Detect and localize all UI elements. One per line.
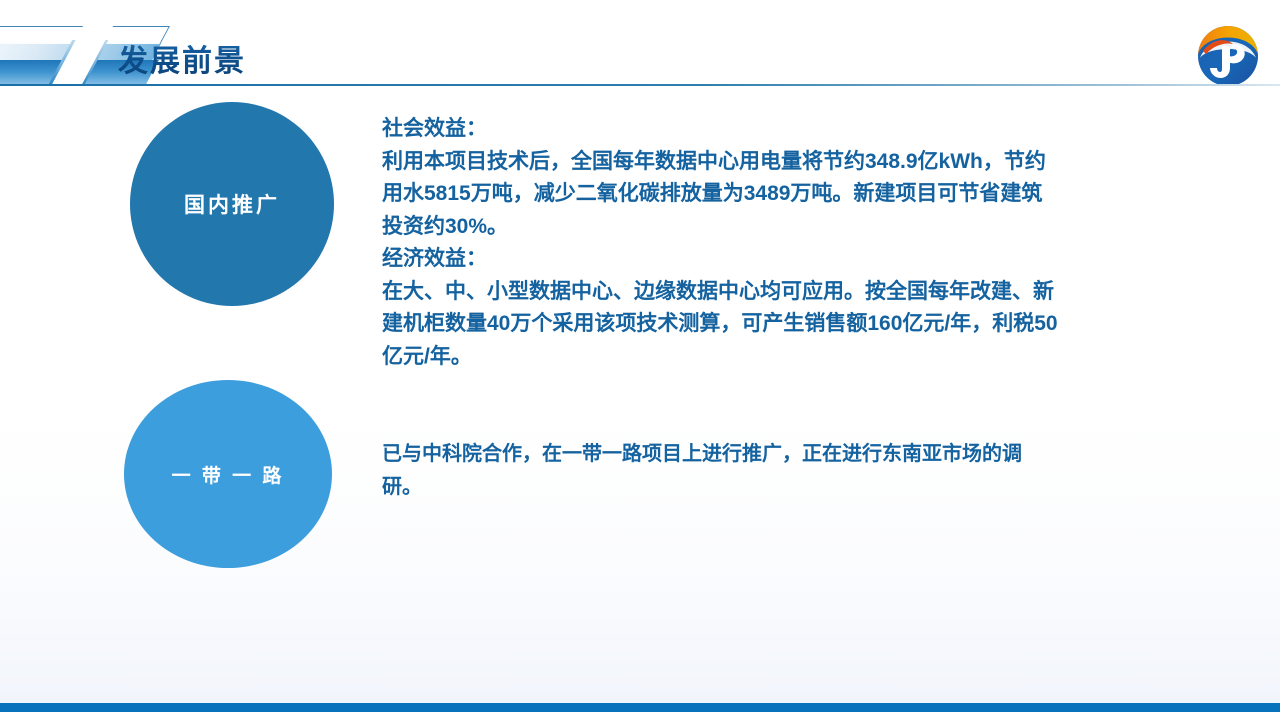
page-title: 发展前景 xyxy=(118,36,246,80)
footer-accent-bar xyxy=(0,703,1280,712)
section-circle-domestic-promotion[interactable]: 国内推广 xyxy=(130,102,334,306)
paragraph-body-social-benefit: 利用本项目技术后，全国每年数据中心用电量将节约348.9亿kWh，节约用水581… xyxy=(382,146,1062,244)
section-text-belt-and-road: 已与中科院合作，在一带一路项目上进行推广，正在进行东南亚市场的调研。 xyxy=(382,438,1042,504)
paragraph-lead-economic-benefit: 经济效益： xyxy=(382,243,1062,276)
section-circle-belt-and-road[interactable]: 一 带 一 路 xyxy=(124,380,332,568)
paragraph-body-economic-benefit: 在大、中、小型数据中心、边缘数据中心均可应用。按全国每年改建、新建机柜数量40万… xyxy=(382,276,1062,374)
paragraph-body-belt-and-road: 已与中科院合作，在一带一路项目上进行推广，正在进行东南亚市场的调研。 xyxy=(382,438,1042,504)
circle-label: 国内推广 xyxy=(184,189,280,219)
slide-header: 发展前景 xyxy=(0,0,1280,86)
paragraph-lead-social-benefit: 社会效益： xyxy=(382,113,1062,146)
slide-canvas: 发展前景 xyxy=(0,0,1280,720)
company-circular-logo-icon xyxy=(1196,24,1260,88)
footer-baseline xyxy=(0,712,1280,720)
circle-label: 一 带 一 路 xyxy=(172,461,285,488)
section-text-domestic-promotion: 社会效益： 利用本项目技术后，全国每年数据中心用电量将节约348.9亿kWh，节… xyxy=(382,113,1062,373)
header-divider-rule xyxy=(0,84,1280,86)
